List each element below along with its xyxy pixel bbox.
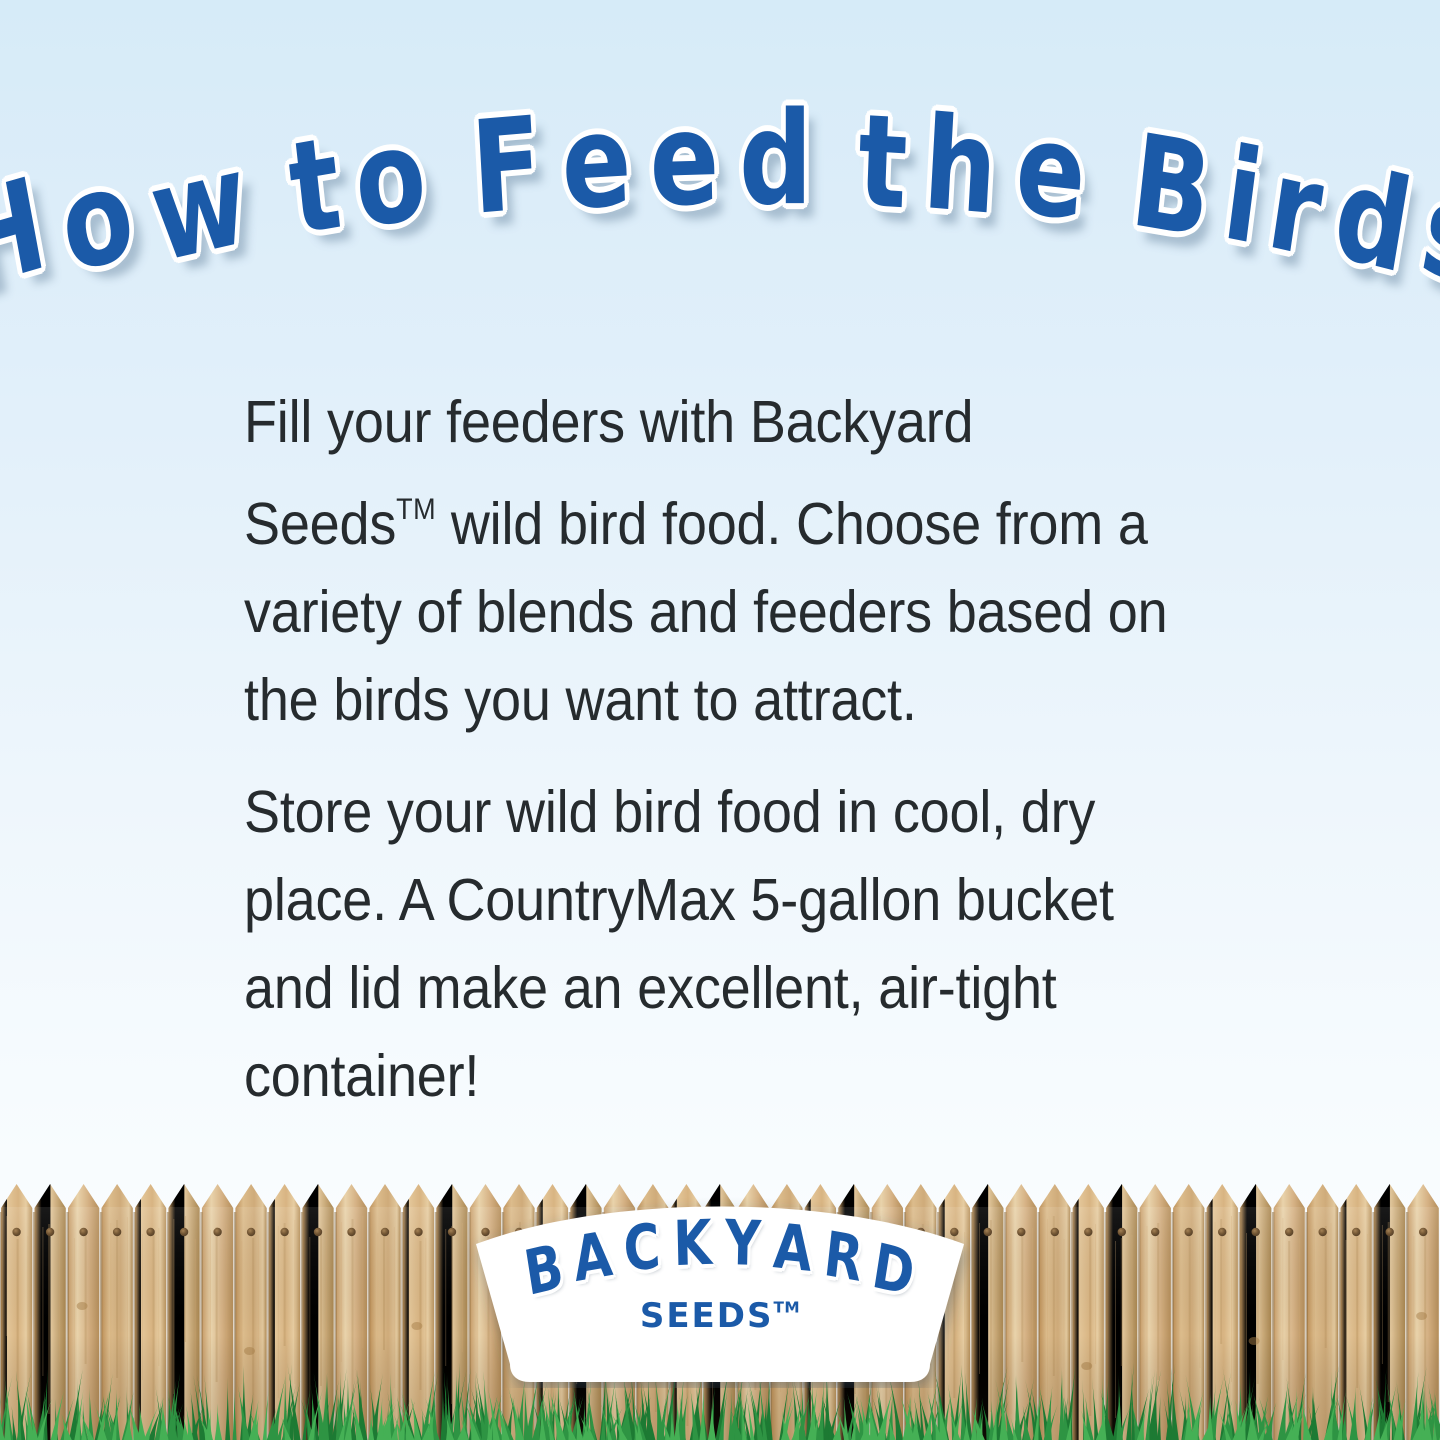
title-space [253,132,290,263]
title-char: A [771,1215,813,1281]
title-char: o [52,149,142,292]
title-char: R [821,1223,866,1291]
logo-sub-label: SEEDS [640,1296,774,1336]
title-char: C [622,1215,662,1281]
title-char: D [869,1235,919,1306]
paragraph-fill-feeders: Fill your feeders with Backyard SeedsTM … [244,378,1168,744]
logo-text-block: BACKYARD SEEDSTM [460,1188,980,1388]
title-space [1093,114,1125,244]
title-char: B [521,1235,568,1305]
title-char: Y [724,1212,761,1275]
title-char: e [649,96,721,226]
title-space [825,96,848,225]
title-char: s [1413,164,1440,306]
title-char: i [1217,131,1268,264]
title-char: H [0,161,54,310]
backyard-seeds-logo: BACKYARD SEEDSTM [460,1188,980,1388]
title-char: A [570,1223,615,1291]
title-char: o [350,111,431,248]
logo-brand-text: BACKYARD [530,1212,911,1274]
title-space [434,107,464,237]
title-char: d [1326,149,1419,293]
title-char: r [1262,140,1330,277]
page-title: How to Feed the Birds [0,96,1440,326]
paragraph-store-food: Store your wild bird food in cool, dry p… [244,768,1168,1120]
title-char: F [469,100,546,234]
title-char: B [1126,117,1217,257]
title-char: e [1012,105,1090,240]
page-title-text: How to Feed the Birds [90,96,1350,326]
title-char: K [673,1212,713,1275]
logo-trademark-symbol: TM [773,1298,800,1316]
title-char: w [143,135,255,282]
title-char: h [921,100,1001,234]
title-char: t [856,98,910,229]
title-char: e [559,97,633,229]
title-char: d [739,96,812,224]
trademark-symbol: TM [396,493,436,526]
poster-canvas: How to Feed the Birds Fill your feeders … [0,0,1440,1440]
logo-sub-text: SEEDSTM [460,1296,980,1336]
body-copy: Fill your feeders with Backyard SeedsTM … [244,378,1168,1120]
title-char: t [284,120,346,255]
